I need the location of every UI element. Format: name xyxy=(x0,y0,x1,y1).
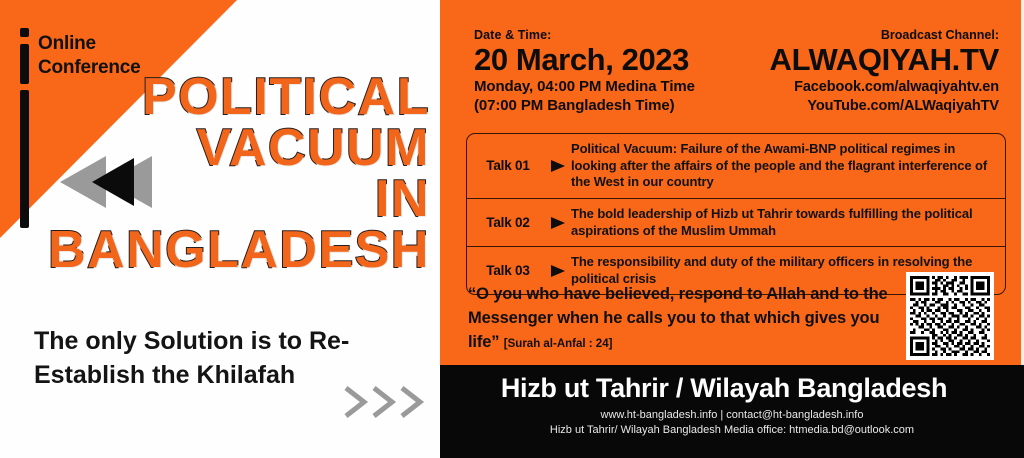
talk-row: Talk 01 Political Vacuum: Failure of the… xyxy=(467,134,1005,199)
broadcast-block: Broadcast Channel: ALWAQIYAH.TV Facebook… xyxy=(699,28,999,115)
talk-number: Talk 01 xyxy=(471,158,545,173)
talk-number: Talk 02 xyxy=(471,215,545,230)
quote-reference: [Surah al-Anfal : 24] xyxy=(504,338,613,350)
broadcast-label: Broadcast Channel: xyxy=(699,28,999,42)
page-title: POLITICAL VACUUM IN BANGLADESH xyxy=(0,72,430,276)
play-caret-icon xyxy=(545,264,571,278)
qr-code-icon[interactable] xyxy=(906,272,994,360)
talk-row: Talk 02 The bold leadership of Hizb ut T… xyxy=(467,199,1005,247)
talk-title: The bold leadership of Hizb ut Tahrir to… xyxy=(571,206,997,239)
talk-number: Talk 03 xyxy=(471,263,545,278)
facebook-link[interactable]: Facebook.com/alwaqiyahtv.en xyxy=(699,78,999,97)
quran-quote: “O you who have believed, respond to All… xyxy=(468,283,888,354)
play-caret-icon xyxy=(545,216,571,230)
triple-chevron-right-icon xyxy=(340,382,435,422)
broadcast-channel-name: ALWAQIYAH.TV xyxy=(699,43,999,78)
conference-poster: Online Conference POLITICAL VACUUM IN BA… xyxy=(0,0,1024,458)
talk-title: Political Vacuum: Failure of the Awami-B… xyxy=(571,141,997,191)
organization-name: Hizb ut Tahrir / Wilayah Bangladesh xyxy=(440,373,1008,404)
youtube-link[interactable]: YouTube.com/ALWaqiyahTV xyxy=(699,97,999,116)
footer-bar: Hizb ut Tahrir / Wilayah Bangladesh www.… xyxy=(440,365,1024,458)
play-caret-icon xyxy=(545,159,571,173)
left-panel: Online Conference POLITICAL VACUUM IN BA… xyxy=(0,0,440,458)
footer-contact-line-2: Hizb ut Tahrir/ Wilayah Bangladesh Media… xyxy=(440,424,1024,436)
footer-contact-line-1: www.ht-bangladesh.info | contact@ht-bang… xyxy=(440,409,1024,421)
